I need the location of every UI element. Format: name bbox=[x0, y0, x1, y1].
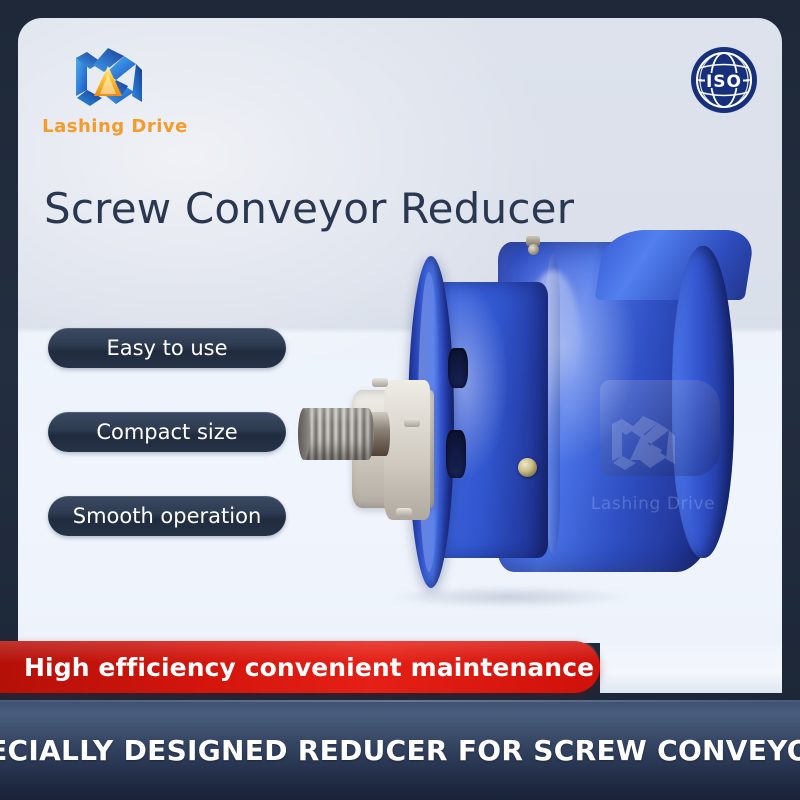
product-hex-screw bbox=[518, 458, 537, 477]
feature-pill-easy-to-use: Easy to use bbox=[48, 328, 286, 368]
feature-pill-smooth-operation: Smooth operation bbox=[48, 496, 286, 536]
product-collar-lug bbox=[404, 418, 420, 427]
product-rib bbox=[600, 380, 720, 476]
brand-logo: Lashing Drive bbox=[40, 44, 190, 148]
iso-globe-icon: ISO bbox=[690, 46, 758, 114]
product-collar-lug bbox=[396, 508, 412, 517]
feature-pill-label: Compact size bbox=[96, 420, 237, 444]
product-drop-shadow bbox=[340, 582, 680, 612]
product-image-screw-conveyor-reducer: Lashing Drive bbox=[300, 230, 782, 625]
highlight-banner-text: High efficiency convenient maintenance bbox=[24, 653, 594, 682]
footer-bar: SPECIALLY DESIGNED REDUCER FOR SCREW CON… bbox=[0, 700, 800, 800]
footer-tagline: SPECIALLY DESIGNED REDUCER FOR SCREW CON… bbox=[0, 734, 800, 767]
feature-pill-label: Easy to use bbox=[106, 336, 227, 360]
product-shaft-end bbox=[298, 408, 310, 460]
product-small-screw bbox=[528, 244, 539, 255]
svg-text:ISO: ISO bbox=[706, 72, 742, 92]
product-upper-cone bbox=[594, 230, 755, 300]
product-splined-shaft bbox=[300, 408, 374, 460]
highlight-banner: High efficiency convenient maintenance bbox=[0, 641, 600, 693]
product-collar-cap bbox=[384, 380, 430, 520]
product-poster: Lashing Drive ISO Screw Conveyor Reducer… bbox=[0, 0, 800, 800]
feature-pill-compact-size: Compact size bbox=[48, 412, 286, 452]
product-flange-slot bbox=[448, 348, 468, 388]
product-flange-slot bbox=[446, 430, 466, 478]
brand-name: Lashing Drive bbox=[40, 116, 190, 137]
lashing-drive-logo-icon bbox=[60, 44, 156, 116]
product-collar-lug bbox=[372, 378, 388, 387]
feature-pill-label: Smooth operation bbox=[73, 504, 262, 528]
footer-top-highlight bbox=[0, 700, 800, 702]
page-title: Screw Conveyor Reducer bbox=[44, 184, 574, 233]
banner-white-strip bbox=[600, 641, 782, 693]
